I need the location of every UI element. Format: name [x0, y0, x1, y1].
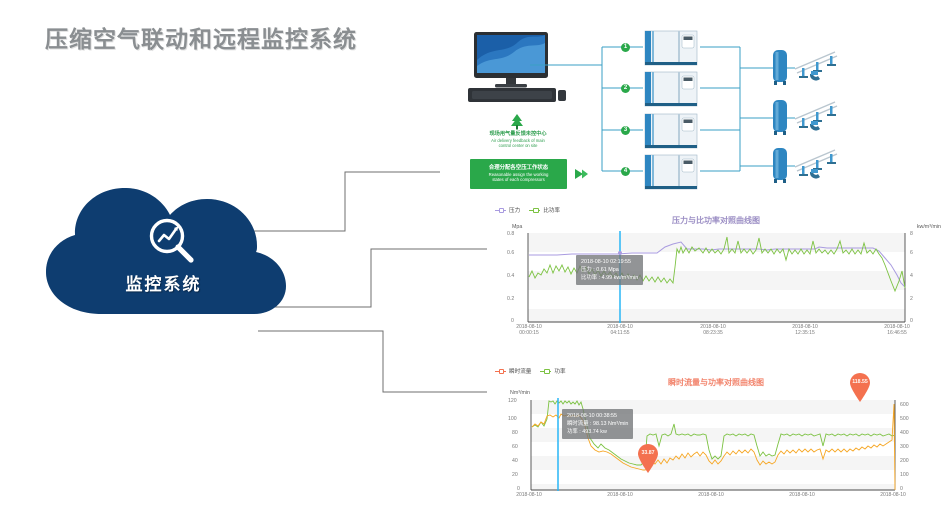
slide-root: 压缩空气联动和远程监控系统 监控系统 — [0, 0, 945, 529]
chart1-tooltip-row1: 压力 : 0.61 Mpa — [581, 266, 638, 274]
chart2-tooltip-row2: 功率 : 493.74 kw — [567, 428, 628, 436]
chart2-marker-pin-1[interactable]: 33.87 — [637, 444, 659, 473]
chart1-xtick-4: 2018-08-10 16:46:55 — [867, 324, 927, 337]
chart1-ytick-1: 0.2 — [507, 296, 514, 302]
system-diagram-panel[interactable]: 现场用气量反馈未控中心 Air delivery feedback of mai… — [440, 18, 945, 203]
chart1-xtick-3: 2018-08-10 12:35:15 — [775, 324, 835, 337]
chart1-tooltip-row2: 比功率 : 4.99 kw/m³/min — [581, 274, 638, 282]
chart2-y2tick-3: 300 — [900, 444, 909, 450]
pin-shape — [637, 444, 659, 473]
chart2-xtick-0: 2018-08-10 — [499, 492, 559, 498]
pressure-chart-panel[interactable]: 压力 比功率 压力与比功率对照曲线图 Mpa kw/m³/min — [487, 203, 945, 336]
chart2-ytick-4: 80 — [512, 430, 518, 436]
chart1-ytick-2: 0.4 — [507, 273, 514, 279]
chart1-xtick-2: 2018-08-10 08:23:35 — [683, 324, 743, 337]
chart2-ytick-1: 20 — [512, 472, 518, 478]
compressor-badge-1[interactable]: 1 — [621, 43, 630, 52]
chart1-xtick-0: 2018-08-10 00:00:15 — [499, 324, 559, 337]
chart1-y2tick-1: 2 — [910, 296, 913, 302]
chart2-ytick-6: 120 — [508, 398, 517, 404]
cloud-label: 监控系统 — [40, 270, 287, 295]
chart2-y2tick-2: 200 — [900, 458, 909, 464]
chart2-marker-pin-2[interactable]: 118.55 — [849, 373, 871, 402]
pin-shape — [849, 373, 871, 402]
compressor-badge-4[interactable]: 4 — [621, 167, 630, 176]
chart2-y2tick-4: 400 — [900, 430, 909, 436]
monitoring-cloud[interactable]: 监控系统 — [40, 178, 295, 323]
chart2-xtick-4: 2018-08-10 — [863, 492, 923, 498]
chart2-y2tick-5: 500 — [900, 416, 909, 422]
chart1-plot — [487, 203, 945, 336]
chart2-ytick-3: 60 — [512, 444, 518, 450]
chart1-y2tick-3: 6 — [910, 250, 913, 256]
chart2-ytick-2: 40 — [512, 458, 518, 464]
chart2-ytick-5: 100 — [508, 416, 517, 422]
piping-network — [440, 18, 945, 203]
chart1-y2tick-2: 4 — [910, 273, 913, 279]
chart1-ytick-4: 0.8 — [507, 231, 514, 237]
chart2-tooltip: 2018-08-10 00:38:55 瞬时流量 : 98.13 Nm³/min… — [562, 409, 633, 439]
chart2-tooltip-row1: 瞬时流量 : 98.13 Nm³/min — [567, 420, 628, 428]
chart1-y2tick-4: 8 — [910, 231, 913, 237]
chart1-tooltip: 2018-08-10 02:19:55 压力 : 0.61 Mpa 比功率 : … — [576, 255, 643, 285]
chart2-marker-value-2: 118.55 — [849, 379, 871, 385]
chart2-plot — [487, 364, 945, 529]
compressor-badge-3[interactable]: 3 — [621, 126, 630, 135]
chart2-xtick-3: 2018-08-10 — [772, 492, 832, 498]
chart-magnifier-icon — [144, 214, 200, 270]
chart1-tooltip-time: 2018-08-10 02:19:55 — [581, 258, 638, 266]
chart1-xtick-1: 2018-08-10 04:11:55 — [590, 324, 650, 337]
chart2-y2tick-1: 100 — [900, 472, 909, 478]
chart2-xtick-1: 2018-08-10 — [590, 492, 650, 498]
flow-chart-panel[interactable]: 瞬时流量 功率 瞬时流量与功率对照曲线图 Nm³/min — [487, 364, 945, 529]
compressor-badge-2[interactable]: 2 — [621, 84, 630, 93]
chart2-marker-value-1: 33.87 — [637, 450, 659, 456]
chart1-ytick-3: 0.6 — [507, 250, 514, 256]
chart2-xtick-2: 2018-08-10 — [681, 492, 741, 498]
chart2-tooltip-time: 2018-08-10 00:38:55 — [567, 412, 628, 420]
chart2-y2tick-6: 600 — [900, 402, 909, 408]
